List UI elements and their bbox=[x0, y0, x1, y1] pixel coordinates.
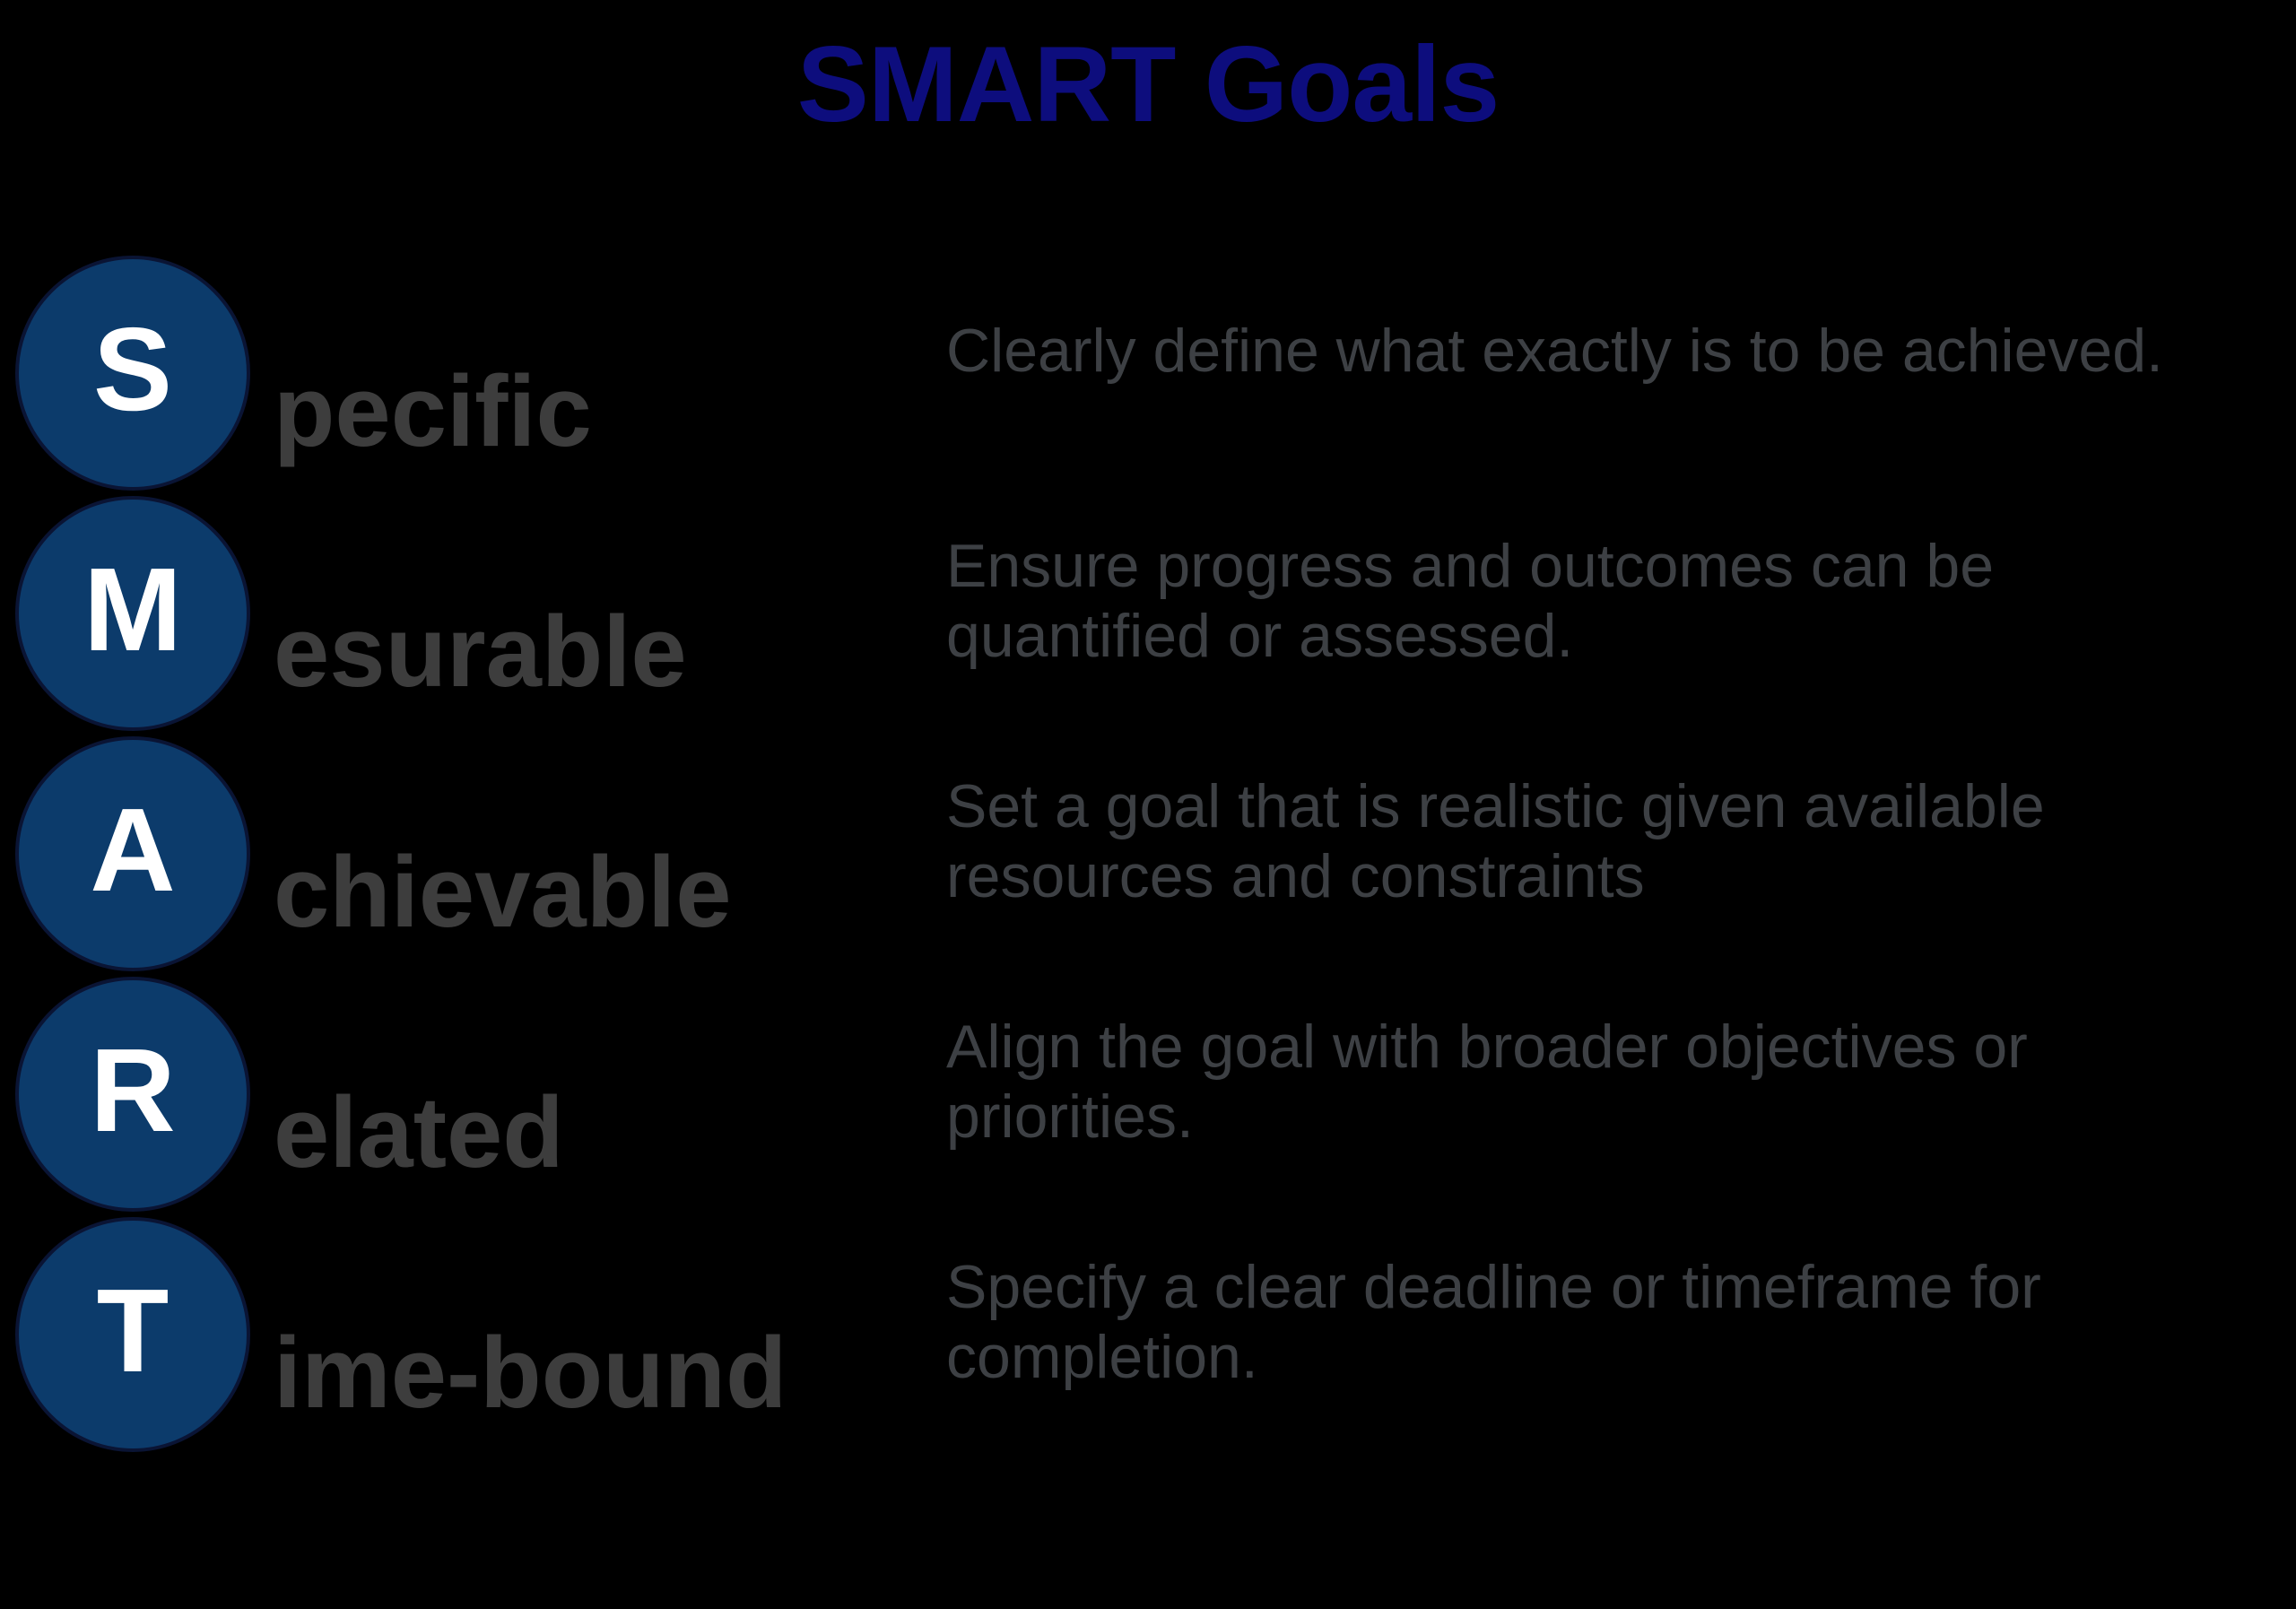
letter-badge-s: S bbox=[15, 256, 250, 491]
badge-letter-text: A bbox=[90, 791, 175, 909]
description-time-bound: Specify a clear deadline or timeframe fo… bbox=[946, 1253, 2247, 1392]
word-tail-achievable: chievable bbox=[274, 842, 732, 943]
smart-row-related: R elated Align the goal with broader obj… bbox=[0, 977, 2296, 1217]
description-specific: Clearly define what exactly is to be ach… bbox=[946, 317, 2247, 387]
smart-row-mesurable: M esurable Ensure progress and outcomes … bbox=[0, 496, 2296, 736]
badge-letter-text: S bbox=[93, 310, 172, 429]
letter-badge-a: A bbox=[15, 736, 250, 971]
word-tail-specific: pecific bbox=[274, 361, 592, 462]
badge-letter-text: M bbox=[83, 551, 182, 669]
badge-letter-text: T bbox=[97, 1272, 170, 1390]
page-title: SMART Goals bbox=[0, 25, 2296, 144]
word-tail-mesurable: esurable bbox=[274, 602, 687, 702]
letter-badge-t: T bbox=[15, 1217, 250, 1452]
description-related: Align the goal with broader objectives o… bbox=[946, 1013, 2247, 1152]
badge-letter-text: R bbox=[90, 1031, 175, 1150]
description-achievable: Set a goal that is realistic given avail… bbox=[946, 772, 2247, 911]
letter-badge-m: M bbox=[15, 496, 250, 731]
letter-badge-r: R bbox=[15, 977, 250, 1212]
smart-row-time-bound: T ime-bound Specify a clear deadline or … bbox=[0, 1217, 2296, 1457]
description-mesurable: Ensure progress and outcomes can be quan… bbox=[946, 532, 2247, 671]
word-tail-time-bound: ime-bound bbox=[274, 1323, 787, 1423]
smart-row-specific: S pecific Clearly define what exactly is… bbox=[0, 256, 2296, 496]
word-tail-related: elated bbox=[274, 1083, 564, 1183]
smart-rows-container: S pecific Clearly define what exactly is… bbox=[0, 256, 2296, 1457]
smart-row-achievable: A chievable Set a goal that is realistic… bbox=[0, 736, 2296, 977]
